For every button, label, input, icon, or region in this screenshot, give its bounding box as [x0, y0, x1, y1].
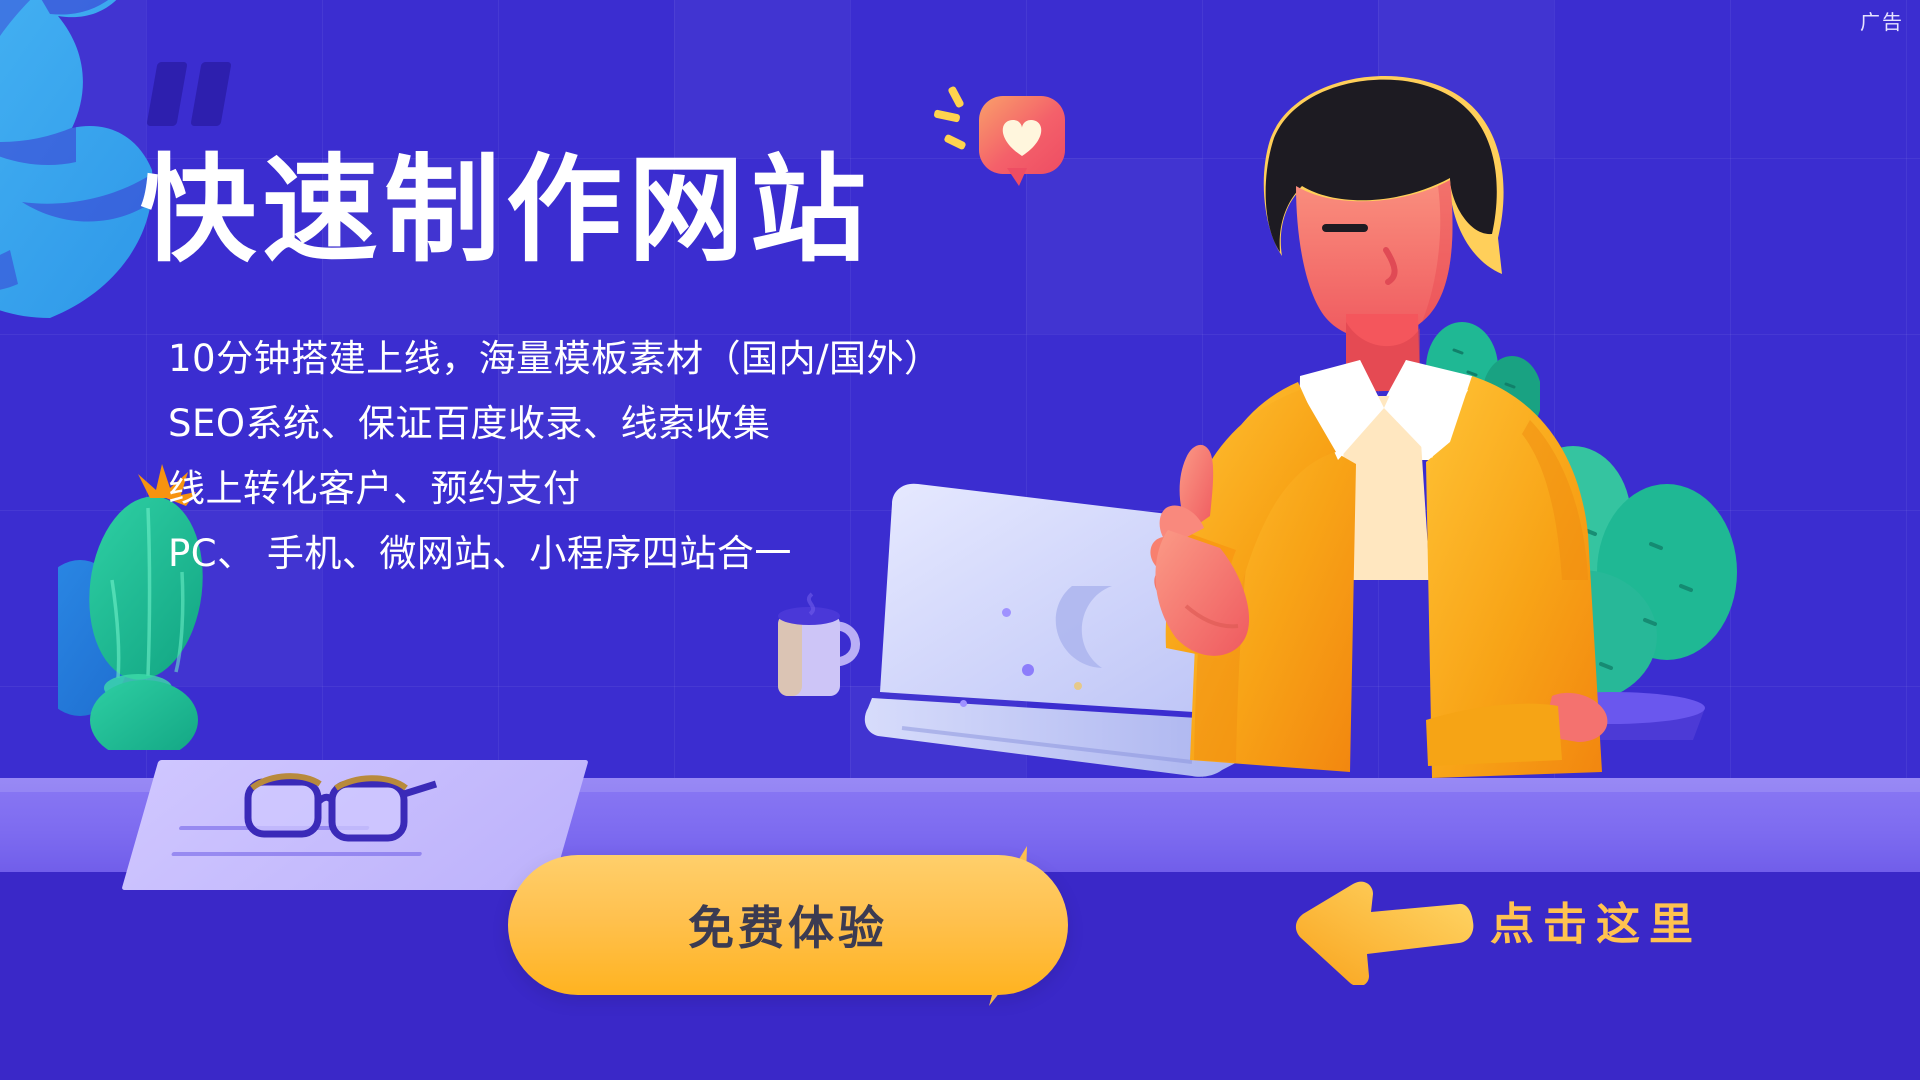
decorative-dot: [1022, 664, 1034, 676]
sparkle-icon: [943, 134, 966, 151]
list-item: PC、 手机、微网站、小程序四站合一: [168, 535, 988, 572]
grid-block: [674, 0, 850, 158]
eyeglasses-icon: [240, 758, 440, 848]
list-item: 线上转化客户、预约支付: [168, 470, 988, 507]
click-here-label: 点击这里: [1490, 888, 1702, 952]
list-item: SEO系统、保证百度收录、线索收集: [168, 405, 988, 442]
decorative-dot: [960, 700, 967, 707]
arrow-left-icon: [1295, 880, 1475, 985]
sparkle-icon: [947, 85, 964, 108]
free-trial-button-label: 免费体验: [688, 892, 888, 958]
heart-like-bubble-icon: [975, 90, 1075, 190]
sparkle-icon: [933, 109, 960, 122]
free-trial-button[interactable]: 免费体验: [508, 855, 1068, 995]
feature-list: 10分钟搭建上线，海量模板素材（国内/国外） SEO系统、保证百度收录、线索收集…: [168, 340, 988, 600]
decorative-dot: [1074, 682, 1082, 690]
person-pointing-icon: [1150, 60, 1710, 800]
ad-badge: 广告: [1860, 6, 1904, 35]
page-title: 快速制作网站: [140, 148, 872, 273]
decorative-dot: [1002, 608, 1011, 617]
coffee-mug-icon: [772, 588, 864, 698]
free-trial-cta[interactable]: 免费体验: [508, 855, 1068, 995]
list-item: 10分钟搭建上线，海量模板素材（国内/国外）: [168, 340, 988, 377]
advertisement-banner[interactable]: 快速制作网站 10分钟搭建上线，海量模板素材（国内/国外） SEO系统、保证百度…: [0, 0, 1920, 1080]
